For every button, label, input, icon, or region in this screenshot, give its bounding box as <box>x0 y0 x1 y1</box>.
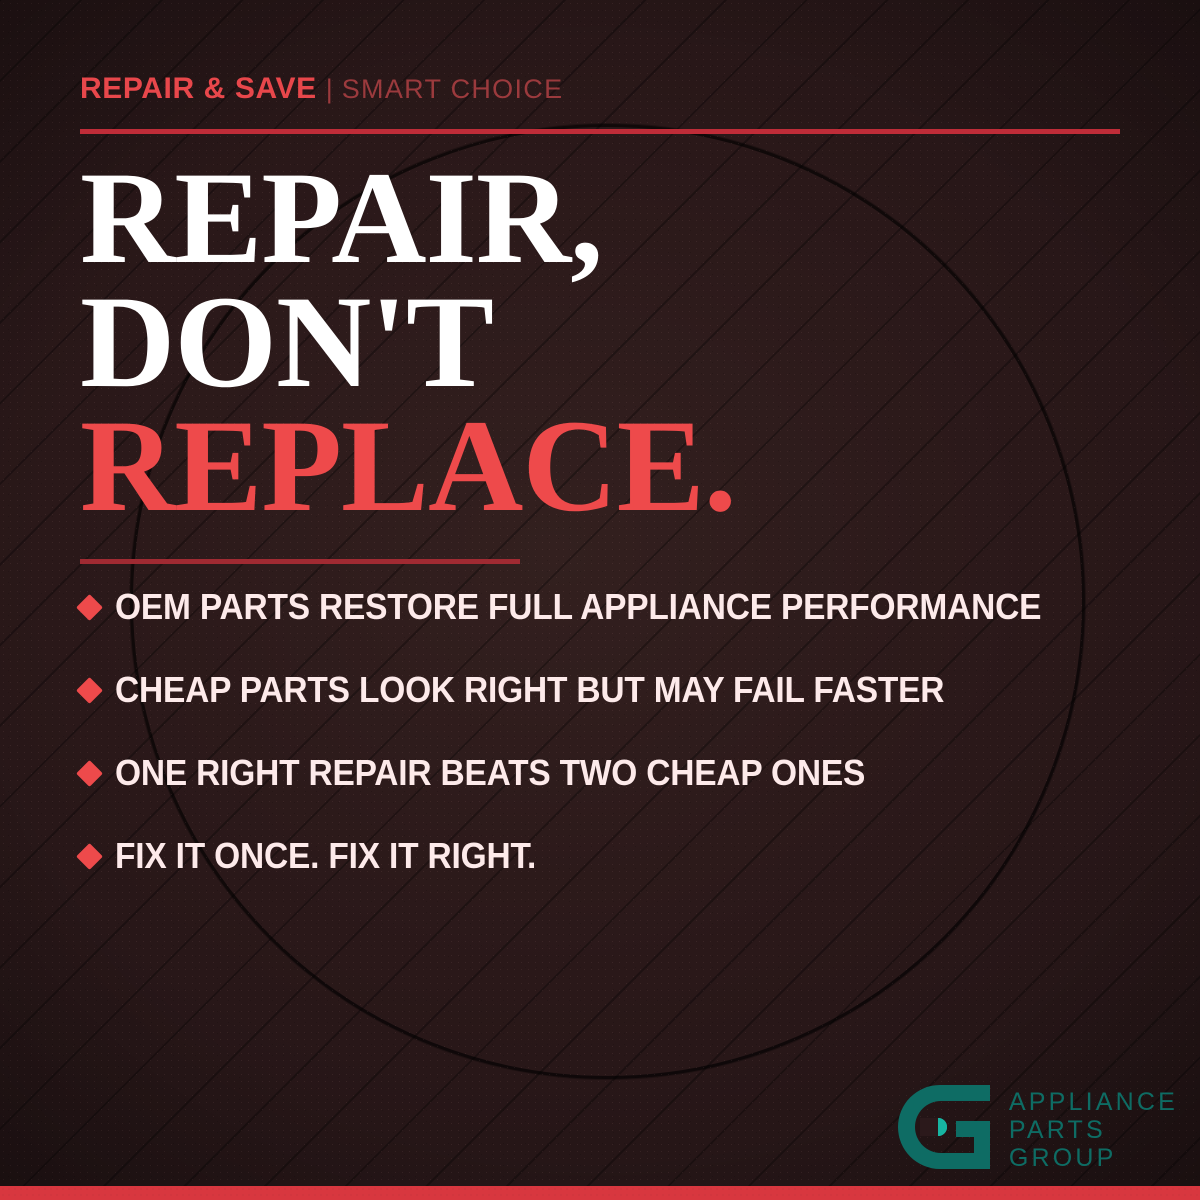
list-item-label: FIX IT ONCE. FIX IT RIGHT. <box>115 835 536 877</box>
list-item-label: CHEAP PARTS LOOK RIGHT BUT MAY FAIL FAST… <box>115 669 944 711</box>
brand-line-3: GROUP <box>1009 1145 1178 1171</box>
list-item: FIX IT ONCE. FIX IT RIGHT. <box>80 835 1150 877</box>
diamond-icon <box>76 760 103 787</box>
headline-line-3: REPLACE. <box>80 404 1140 528</box>
benefits-list: OEM PARTS RESTORE FULL APPLIANCE PERFORM… <box>80 586 1150 877</box>
diamond-icon <box>76 677 103 704</box>
brand-logo: APPLIANCE PARTS GROUP <box>894 1081 1178 1178</box>
bottom-accent-bar <box>0 1186 1200 1200</box>
diamond-icon <box>76 594 103 621</box>
list-item: ONE RIGHT REPAIR BEATS TWO CHEAP ONES <box>80 752 1150 794</box>
headline-divider-rule <box>80 559 520 564</box>
brand-line-2: PARTS <box>1009 1117 1178 1143</box>
list-item-label: OEM PARTS RESTORE FULL APPLIANCE PERFORM… <box>115 586 1041 628</box>
eyebrow-main-label: REPAIR & SAVE <box>80 72 317 106</box>
diamond-icon <box>76 843 103 870</box>
eyebrow-separator: | <box>326 74 333 105</box>
list-item: OEM PARTS RESTORE FULL APPLIANCE PERFORM… <box>80 586 1150 628</box>
brand-line-1: APPLIANCE <box>1009 1089 1178 1115</box>
list-item: CHEAP PARTS LOOK RIGHT BUT MAY FAIL FAST… <box>80 669 1150 711</box>
brand-wordmark: APPLIANCE PARTS GROUP <box>1009 1089 1178 1171</box>
bottom-bar-texture <box>0 1186 1200 1200</box>
list-item-label: ONE RIGHT REPAIR BEATS TWO CHEAP ONES <box>115 752 865 794</box>
poster-canvas: REPAIR & SAVE | SMART CHOICE REPAIR, DON… <box>0 0 1200 1200</box>
eyebrow: REPAIR & SAVE | SMART CHOICE <box>80 72 563 106</box>
headline-line-2: DON'T <box>80 280 1140 404</box>
page-title: REPAIR, DON'T REPLACE. <box>80 156 1140 528</box>
g-monogram-icon <box>894 1081 996 1178</box>
headline-line-1: REPAIR, <box>80 156 1140 280</box>
header-divider-rule <box>80 129 1120 134</box>
eyebrow-sub-label: SMART CHOICE <box>342 74 564 105</box>
